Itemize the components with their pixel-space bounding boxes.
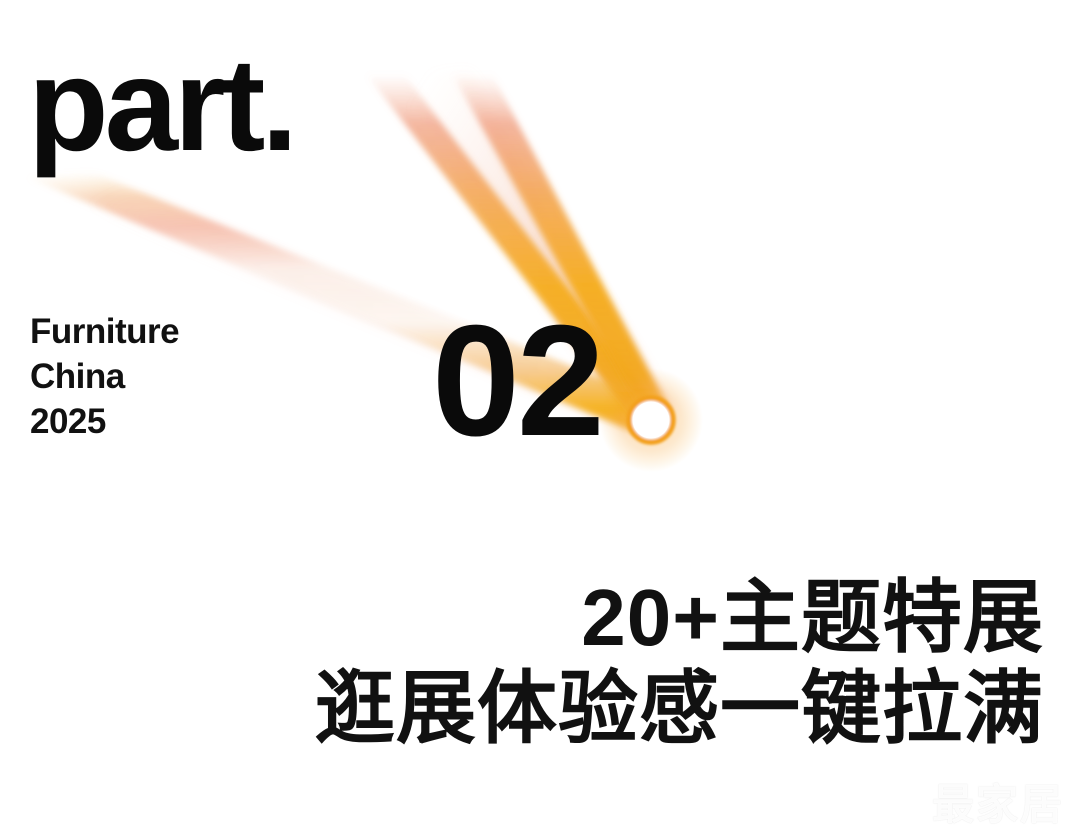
section-number: 02 xyxy=(432,302,602,460)
watermark: 最家居 xyxy=(932,784,1064,826)
focus-ring-core xyxy=(633,402,670,439)
brand-subtitle: Furniture China 2025 xyxy=(30,310,179,444)
brand-subtitle-line-1: Furniture xyxy=(30,310,179,355)
brand-wordmark: part. xyxy=(28,44,294,165)
focus-ring-icon xyxy=(629,398,673,442)
focus-glow xyxy=(599,368,703,472)
headline-line-1: 20+主题特展 xyxy=(0,572,1044,663)
poster-canvas: part. Furniture China 2025 02 20+主题特展 逛展… xyxy=(0,0,1080,834)
headline-line-2: 逛展体验感一键拉满 xyxy=(0,663,1044,754)
brand-subtitle-line-3: 2025 xyxy=(30,400,179,445)
headline-block: 20+主题特展 逛展体验感一键拉满 xyxy=(0,572,1044,754)
brand-subtitle-line-2: China xyxy=(30,355,179,400)
